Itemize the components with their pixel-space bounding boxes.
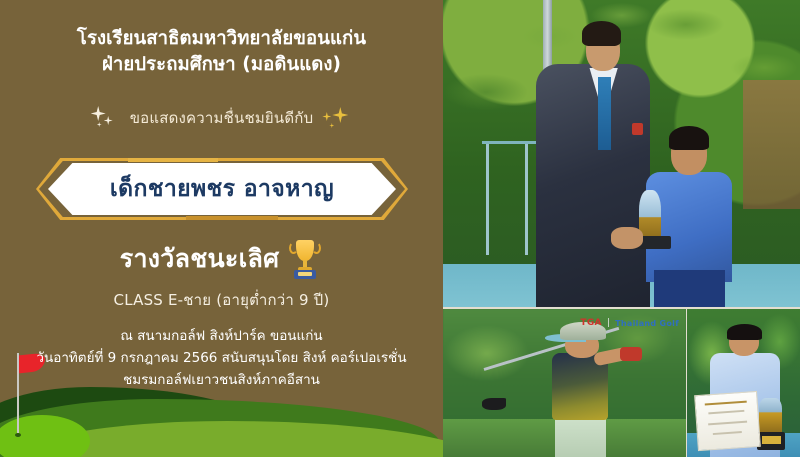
school-name-line2: ฝ่ายประถมศึกษา (มอดินแดง) [0,52,443,78]
details-line3: ชมรมกอล์ฟเยาวชนสิงห์ภาคอีสาน [0,370,443,392]
details-line1: ณ สนามกอล์ฟ สิงห์ปาร์ค ขอนแก่น [0,326,443,348]
certificate-photo [687,309,800,457]
golf-hole [15,433,21,437]
text-panel: โรงเรียนสาธิตมหาวิทยาลัยขอนแก่น ฝ่ายประถ… [0,0,443,457]
page-title: โรงเรียนสาธิตมหาวิทยาลัยขอนแก่น ฝ่ายประถ… [0,26,443,79]
award-title: รางวัลชนะเลิศ [120,239,280,279]
award-row: รางวัลชนะเลิศ [0,238,443,280]
tga-watermark: TGA | Thailand Golf [580,318,679,328]
congratulations-poster: โรงเรียนสาธิตมหาวิทยาลัยขอนแก่น ฝ่ายประถ… [0,0,800,457]
watermark-tga: TGA [580,318,601,328]
winner-name: เด็กชายพชร อาจหาญ [110,171,334,207]
golf-swing-photo: TGA | Thailand Golf [443,309,686,457]
sparkle-icon [322,106,352,130]
banner-plate: เด็กชายพชร อาจหาญ [48,163,396,215]
sparkle-icon [91,106,121,130]
trophy-icon [287,238,323,280]
winner-name-banner: เด็กชายพชร อาจหาญ [36,158,408,220]
award-ceremony-photo [443,0,800,307]
watermark-brand: Thailand Golf [615,319,679,328]
event-details: ณ สนามกอล์ฟ สิงห์ปาร์ค ขอนแก่น วันอาทิตย… [0,326,443,392]
photo-column: TGA | Thailand Golf [443,0,800,457]
details-line2: วันอาทิตย์ที่ 9 กรกฎาคม 2566 สนับสนุนโดย… [0,348,443,370]
watermark-divider: | [607,318,610,328]
banner-accent-top [128,158,218,162]
banner-accent-bottom [186,216,278,220]
award-class: CLASS E-ชาย (อายุต่ำกว่า 9 ปี) [0,288,443,312]
school-name-line1: โรงเรียนสาธิตมหาวิทยาลัยขอนแก่น [0,26,443,52]
congratulation-text: ขอแสดงความชื่นชมยินดีกับ [130,106,314,130]
congratulation-row: ขอแสดงความชื่นชมยินดีกับ [0,106,443,130]
